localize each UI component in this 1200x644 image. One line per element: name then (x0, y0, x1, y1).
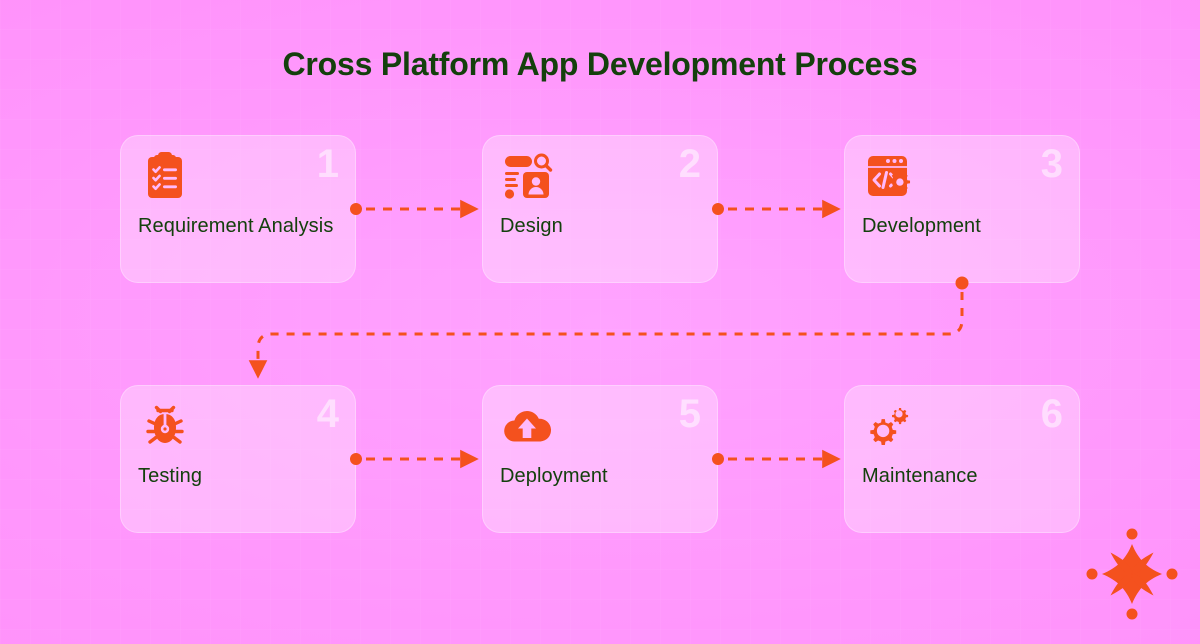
process-step-card-1[interactable]: 1 Requirement Analysis (120, 135, 356, 283)
process-step-card-3[interactable]: 3 Development (844, 135, 1080, 283)
wireframe-design-icon (501, 150, 553, 202)
step-number: 1 (317, 144, 339, 184)
four-point-star-logo (1086, 528, 1178, 620)
connector-2-to-3 (712, 203, 836, 215)
bug-icon (139, 400, 191, 452)
connector-layer (0, 0, 1200, 644)
code-window-gear-icon (863, 150, 915, 202)
connector-4-to-5 (350, 453, 474, 465)
step-label: Development (862, 210, 1067, 242)
connector-1-to-2 (350, 203, 474, 215)
process-step-card-2[interactable]: 2 Design (482, 135, 718, 283)
step-number: 4 (317, 394, 339, 434)
process-step-card-6[interactable]: 6 Maintenance (844, 385, 1080, 533)
step-label: Deployment (500, 460, 705, 492)
step-label: Maintenance (862, 460, 1067, 492)
step-label: Requirement Analysis (138, 210, 343, 242)
process-step-card-5[interactable]: 5 Deployment (482, 385, 718, 533)
cloud-upload-icon (501, 400, 553, 452)
step-number: 2 (679, 144, 701, 184)
connector-3-to-4 (258, 277, 969, 375)
step-label: Testing (138, 460, 343, 492)
gears-icon (863, 400, 915, 452)
step-number: 5 (679, 394, 701, 434)
step-label: Design (500, 210, 705, 242)
page-title: Cross Platform App Development Process (0, 46, 1200, 83)
step-number: 3 (1041, 144, 1063, 184)
infographic-canvas: Cross Platform App Development Process (0, 0, 1200, 644)
clipboard-checklist-icon (139, 150, 191, 202)
process-step-card-4[interactable]: 4 Testing (120, 385, 356, 533)
connector-5-to-6 (712, 453, 836, 465)
step-number: 6 (1041, 394, 1063, 434)
